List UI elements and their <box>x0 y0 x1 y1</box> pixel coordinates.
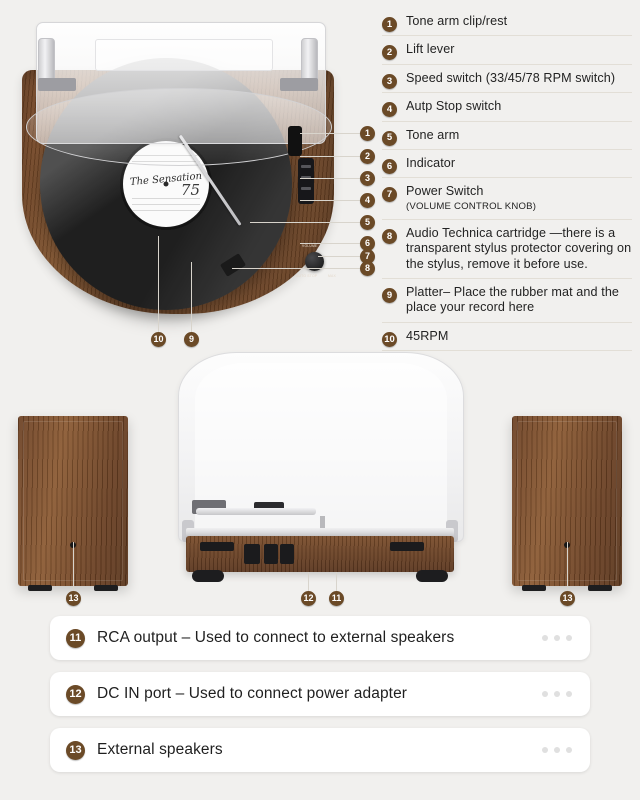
legend-item-4[interactable]: 4 Autp Stop switch <box>382 99 632 114</box>
legend-list: 1 Tone arm clip/rest 2 Lift lever 3 Spee… <box>382 14 632 357</box>
more-options-icon[interactable] <box>542 747 572 753</box>
legend-badge-8: 8 <box>382 229 397 244</box>
dust-cover-panel <box>95 39 273 71</box>
callout-badge-5[interactable]: 5 <box>360 215 375 230</box>
legend-text-3: Speed switch (33/45/78 RPM switch) <box>406 71 632 86</box>
record-spindle-hole <box>164 182 169 187</box>
turntable-top-view: The Sensational 75 VOLUME AUTO STOP MAX <box>8 22 348 322</box>
legend-item-10[interactable]: 10 45RPM <box>382 329 632 344</box>
legend-text-9: Platter– Place the rubber mat and the pl… <box>406 285 632 316</box>
rear-foot-right <box>416 570 448 582</box>
legend-divider <box>382 92 632 93</box>
auto-stop-label: AUTO STOP <box>296 274 317 278</box>
legend-item-8[interactable]: 8 Audio Technica cartridge —there is a t… <box>382 226 632 272</box>
product-diagram-page: The Sensational 75 VOLUME AUTO STOP MAX <box>0 0 640 800</box>
callout-badge-13-left[interactable]: 13 <box>66 591 81 606</box>
speed-switch-panel[interactable] <box>298 158 314 204</box>
legend-badge-9: 9 <box>382 288 397 303</box>
legend-divider <box>382 121 632 122</box>
card-text-13: External speakers <box>97 741 223 759</box>
card-badge-11: 11 <box>66 629 85 648</box>
legend-badge-7: 7 <box>382 187 397 202</box>
legend-divider <box>382 149 632 150</box>
dc-in-port[interactable] <box>244 544 260 564</box>
feature-cards: 11 RCA output – Used to connect to exter… <box>50 616 590 784</box>
legend-item-1[interactable]: 1 Tone arm clip/rest <box>382 14 632 29</box>
record-label-speed: 75 <box>181 181 200 199</box>
legend-item-6[interactable]: 6 Indicator <box>382 156 632 171</box>
card-badge-13: 13 <box>66 741 85 760</box>
rear-vent-left <box>200 542 234 551</box>
legend-subtext-7: (VOLUME CONTROL KNOB) <box>406 200 632 213</box>
legend-item-3[interactable]: 3 Speed switch (33/45/78 RPM switch) <box>382 71 632 86</box>
legend-text-10: 45RPM <box>406 329 632 344</box>
legend-badge-10: 10 <box>382 332 397 347</box>
callout-badge-3[interactable]: 3 <box>360 171 375 186</box>
legend-divider <box>382 177 632 178</box>
legend-badge-6: 6 <box>382 159 397 174</box>
legend-divider <box>382 219 632 220</box>
card-badge-12: 12 <box>66 685 85 704</box>
legend-badge-5: 5 <box>382 131 397 146</box>
max-label: MAX <box>328 274 336 278</box>
more-options-icon[interactable] <box>542 691 572 697</box>
rear-foot-left <box>192 570 224 582</box>
legend-badge-4: 4 <box>382 102 397 117</box>
legend-item-5[interactable]: 5 Tone arm <box>382 128 632 143</box>
card-text-11: RCA output – Used to connect to external… <box>97 629 454 647</box>
legend-text-8: Audio Technica cartridge —there is a tra… <box>406 226 632 272</box>
callout-badge-11[interactable]: 11 <box>329 591 344 606</box>
rear-vent-right <box>390 542 424 551</box>
legend-item-9[interactable]: 9 Platter– Place the rubber mat and the … <box>382 285 632 316</box>
callout-badge-13-right[interactable]: 13 <box>560 591 575 606</box>
callout-badge-12[interactable]: 12 <box>301 591 316 606</box>
rca-output-left[interactable] <box>264 544 278 564</box>
turntable-rear-view <box>168 352 472 592</box>
legend-text-2: Lift lever <box>406 42 632 57</box>
volume-label: VOLUME <box>302 244 318 248</box>
legend-badge-2: 2 <box>382 45 397 60</box>
card-rca-output[interactable]: 11 RCA output – Used to connect to exter… <box>50 616 590 660</box>
callout-badge-2[interactable]: 2 <box>360 149 375 164</box>
card-external-speakers[interactable]: 13 External speakers <box>50 728 590 772</box>
legend-text-6: Indicator <box>406 156 632 171</box>
callout-badge-4[interactable]: 4 <box>360 193 375 208</box>
dust-cover-rim <box>26 88 332 166</box>
legend-text-4: Autp Stop switch <box>406 99 632 114</box>
dust-cover-hinge-base-left <box>38 78 76 91</box>
legend-text-7: Power Switch <box>406 184 632 199</box>
legend-badge-3: 3 <box>382 74 397 89</box>
more-options-icon[interactable] <box>542 635 572 641</box>
legend-text-5: Tone arm <box>406 128 632 143</box>
legend-divider <box>382 35 632 36</box>
legend-divider <box>382 322 632 323</box>
callout-badge-10[interactable]: 10 <box>151 332 166 347</box>
legend-text-1: Tone arm clip/rest <box>406 14 632 29</box>
callout-badge-1[interactable]: 1 <box>360 126 375 141</box>
legend-divider <box>382 64 632 65</box>
legend-badge-1: 1 <box>382 17 397 32</box>
tonearm-base <box>288 126 302 156</box>
rca-output-right[interactable] <box>280 544 294 564</box>
legend-item-7[interactable]: 7 Power Switch (VOLUME CONTROL KNOB) <box>382 184 632 212</box>
legend-divider <box>382 278 632 279</box>
card-dc-in-port[interactable]: 12 DC IN port – Used to connect power ad… <box>50 672 590 716</box>
dust-cover-hinge-base-right <box>280 78 318 91</box>
card-text-12: DC IN port – Used to connect power adapt… <box>97 685 407 703</box>
legend-item-2[interactable]: 2 Lift lever <box>382 42 632 57</box>
callout-badge-9[interactable]: 9 <box>184 332 199 347</box>
rear-tone-arm <box>196 508 316 515</box>
callout-badge-8[interactable]: 8 <box>360 261 375 276</box>
